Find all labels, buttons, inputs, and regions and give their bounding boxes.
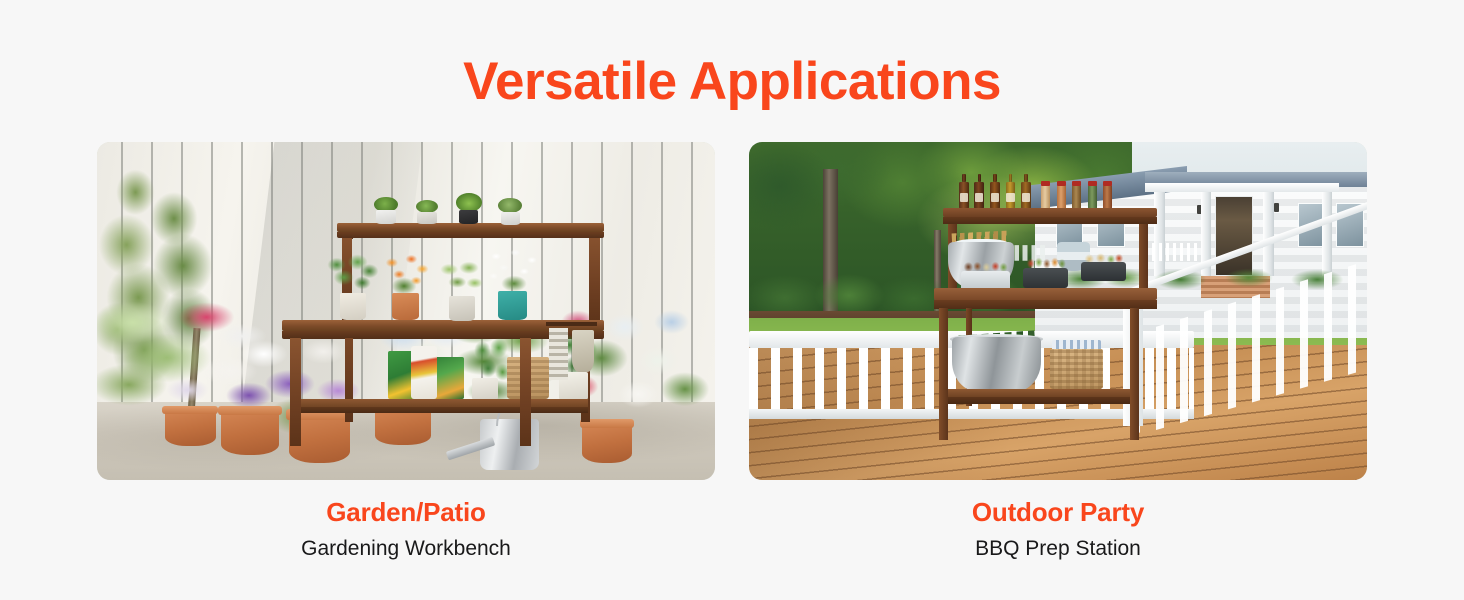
spice-jar: [1088, 185, 1097, 209]
bench-front-leg-right: [520, 338, 531, 446]
tool-hook-rail: [546, 322, 597, 326]
bench-lower-shelf: [292, 399, 588, 407]
wicker-storage-basket: [1050, 349, 1103, 389]
bench-upper-shelf: [337, 223, 604, 232]
spice-jar: [1072, 185, 1081, 209]
porch-lamp: [1274, 203, 1280, 212]
card-subtitle: BBQ Prep Station: [749, 536, 1367, 562]
stair-railing-handrail: [1126, 254, 1367, 355]
bench-upper-shelf: [943, 208, 1157, 217]
herb-pot-stone: [417, 212, 436, 225]
serving-platter: [1081, 262, 1125, 281]
bbq-sauce-bottle: [1021, 182, 1031, 209]
bench-lower-shelf-edge: [939, 397, 1139, 404]
bbq-sauce-bottle: [990, 182, 1000, 209]
bbq-sauce-bottle: [959, 182, 969, 209]
marigold-blooms: [376, 251, 437, 296]
bench-work-surface: [934, 288, 1156, 299]
gardening-gloves: [572, 330, 594, 372]
card-subtitle: Gardening Workbench: [97, 536, 715, 562]
serving-platter: [1023, 268, 1067, 288]
garden-patio-photo[interactable]: [97, 142, 715, 480]
bench-front-leg-left: [939, 308, 948, 440]
hanging-towel: [549, 328, 568, 381]
bbq-sauce-bottle: [974, 182, 984, 209]
plant-food-container: [411, 346, 437, 399]
terracotta-plant-pot: [392, 293, 419, 319]
daisy-blooms: [482, 246, 546, 293]
white-plant-pot: [340, 293, 366, 319]
spice-jar: [1103, 185, 1112, 209]
garden-patio-caption: Garden/Patio Gardening Workbench: [97, 496, 715, 562]
galvanized-ice-tub: [952, 337, 1041, 392]
herb-pot-white: [501, 212, 520, 225]
herb-pot-white: [376, 210, 397, 224]
application-card-outdoor-party[interactable]: Outdoor Party BBQ Prep Station: [749, 142, 1367, 562]
porch-roof: [1145, 183, 1339, 192]
bench-front-leg-left: [290, 338, 301, 446]
bench-upper-post-right: [589, 231, 599, 326]
terracotta-pot: [165, 406, 216, 447]
bench-upper-post-right: [1139, 216, 1148, 294]
bench-lower-shelf-edge: [292, 407, 588, 413]
application-cards-row: Garden/Patio Gardening Workbench: [97, 142, 1367, 562]
leafy-houseplant: [324, 254, 382, 299]
stone-plant-pot: [449, 296, 475, 321]
bench-upper-shelf-edge: [943, 217, 1157, 224]
herb-plant: [416, 200, 438, 213]
bench-lower-shelf: [939, 389, 1139, 398]
outdoor-party-photo[interactable]: [749, 142, 1367, 480]
herb-plant: [498, 198, 522, 213]
terracotta-pot: [221, 406, 280, 455]
bench-upper-shelf-edge: [337, 232, 604, 238]
application-card-garden-patio[interactable]: Garden/Patio Gardening Workbench: [97, 142, 715, 562]
page-title: Versatile Applications: [0, 52, 1464, 113]
versatile-applications-banner: Versatile Applications: [0, 0, 1464, 600]
card-title: Garden/Patio: [97, 496, 715, 529]
bbq-sauce-bottle: [1006, 182, 1016, 209]
spice-jar: [1057, 185, 1066, 209]
card-title: Outdoor Party: [749, 496, 1367, 529]
spice-jar: [1041, 185, 1050, 209]
outdoor-party-caption: Outdoor Party BBQ Prep Station: [749, 496, 1367, 562]
bench-front-leg-right: [1130, 308, 1139, 440]
teal-plant-pot: [498, 291, 527, 320]
herb-plant: [456, 193, 482, 211]
party-prep-bench: [934, 159, 1156, 446]
potting-bench: [282, 183, 603, 447]
herb-pot-black: [459, 210, 478, 224]
